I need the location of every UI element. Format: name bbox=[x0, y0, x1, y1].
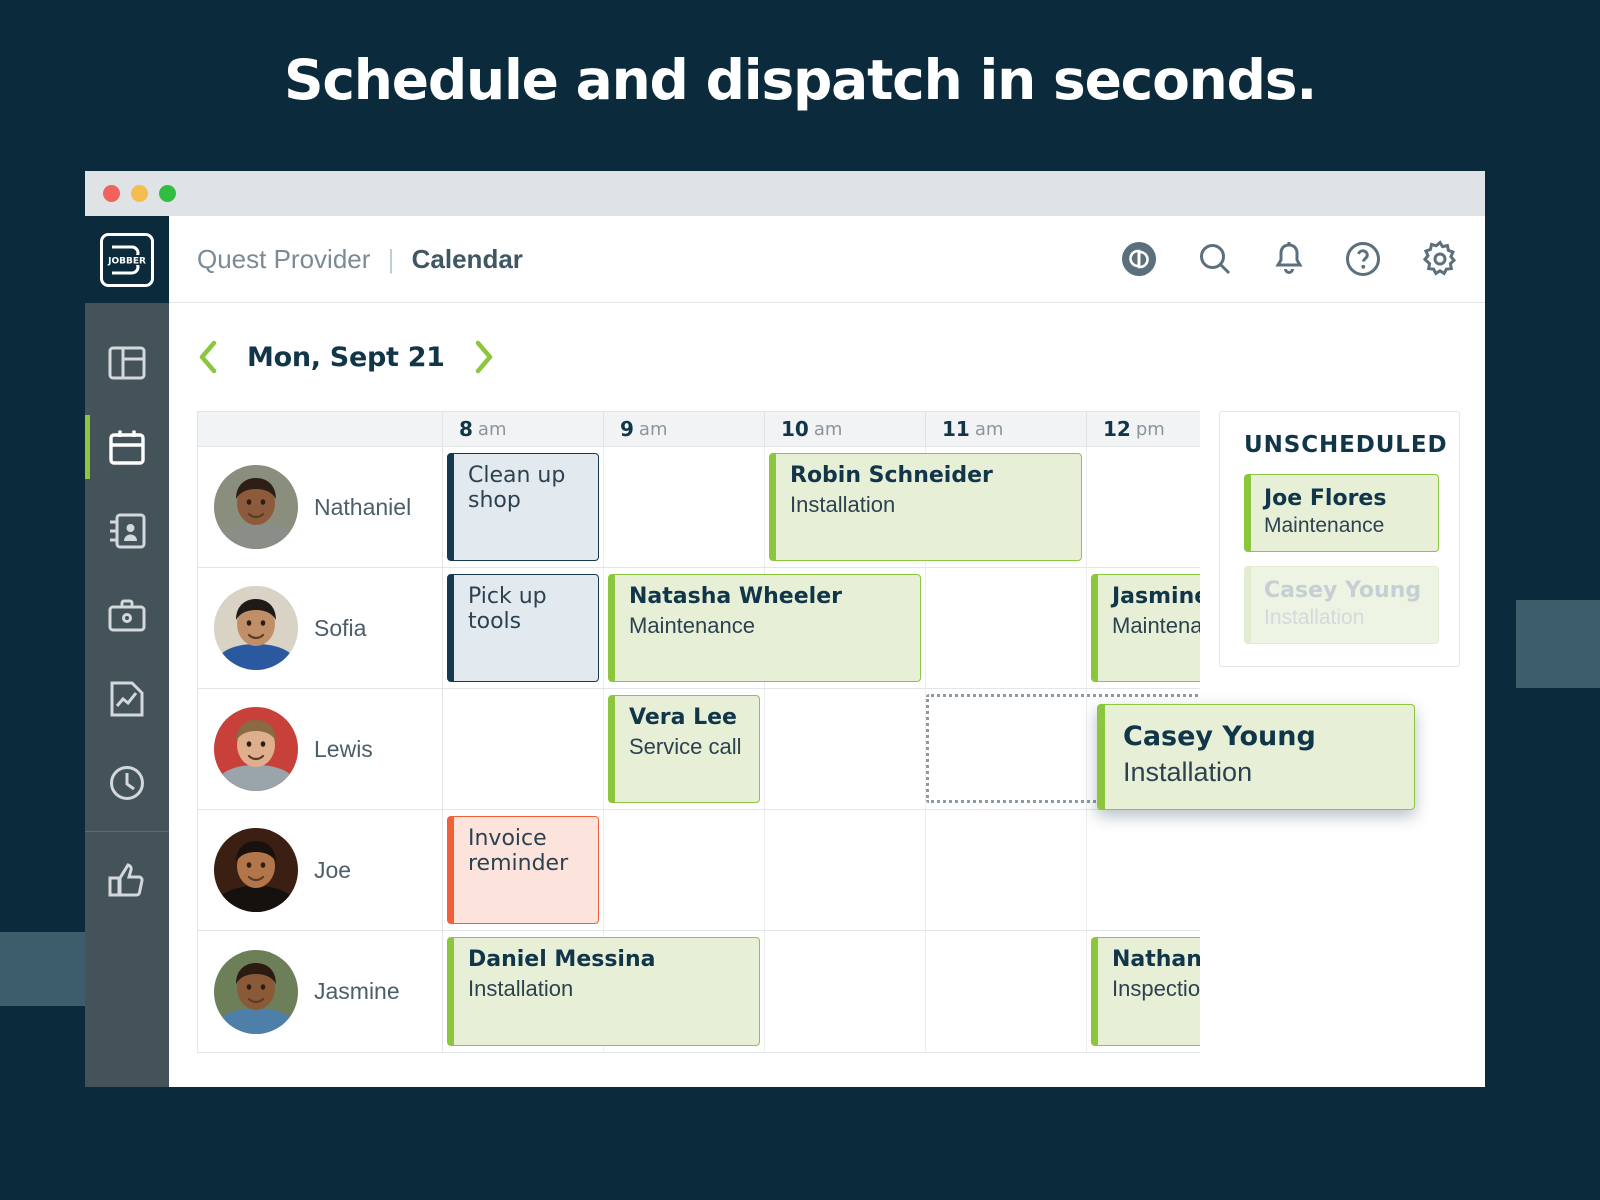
unscheduled-card-title: Joe Flores bbox=[1264, 486, 1425, 511]
date-navigation: Mon, Sept 21 bbox=[169, 303, 1485, 411]
technician-name: Jasmine bbox=[314, 978, 400, 1005]
avatar bbox=[214, 586, 298, 670]
timeline-cell[interactable] bbox=[443, 689, 604, 809]
dragging-job-subtitle: Installation bbox=[1123, 757, 1394, 788]
schedule-row: JoeInvoice reminder bbox=[198, 810, 1200, 931]
schedule-row: SofiaPick up toolsNatasha WheelerMainten… bbox=[198, 568, 1200, 689]
task-card[interactable]: Pick up tools bbox=[447, 574, 599, 682]
card-subtitle: Installation bbox=[790, 493, 1069, 518]
technician-cell[interactable]: Nathaniel bbox=[198, 447, 443, 567]
sidebar-divider bbox=[85, 831, 169, 832]
job-card[interactable]: NathanielInspection bbox=[1091, 937, 1200, 1046]
page-headline: Schedule and dispatch in seconds. bbox=[0, 48, 1600, 112]
technician-name: Nathaniel bbox=[314, 494, 411, 521]
row-timeline: Vera LeeService call bbox=[443, 689, 1200, 809]
card-subtitle: Installation bbox=[468, 977, 747, 1002]
calendar-icon bbox=[109, 429, 145, 465]
app-window: JOBBER bbox=[85, 171, 1485, 1087]
time-hour: 10 bbox=[781, 417, 809, 441]
breadcrumb: Quest Provider | Calendar bbox=[197, 244, 523, 275]
time-hour: 8 bbox=[459, 417, 473, 441]
schedule-area: 8 am 9 am 10 am 11 am bbox=[169, 411, 1485, 1053]
schedule-row: NathanielClean up shopRobin SchneiderIns… bbox=[198, 447, 1200, 568]
schedule-grid: 8 am 9 am 10 am 11 am bbox=[197, 411, 1200, 1053]
avatar bbox=[214, 465, 298, 549]
avatar bbox=[214, 707, 298, 791]
bell-icon[interactable] bbox=[1273, 241, 1305, 277]
sidebar-items bbox=[85, 303, 169, 922]
technician-name: Lewis bbox=[314, 736, 373, 763]
card-title: Clean up shop bbox=[468, 464, 586, 513]
previous-day-button[interactable] bbox=[197, 340, 219, 374]
svg-text:JOBBER: JOBBER bbox=[107, 256, 146, 266]
sidebar: JOBBER bbox=[85, 216, 169, 1087]
close-window-button[interactable] bbox=[103, 185, 120, 202]
time-slot-header: 11 am bbox=[926, 412, 1087, 446]
unscheduled-card[interactable]: Joe Flores Maintenance bbox=[1244, 474, 1439, 552]
unscheduled-card-subtitle: Installation bbox=[1264, 606, 1425, 630]
briefcase-icon bbox=[108, 598, 146, 632]
timeline-cell[interactable] bbox=[926, 931, 1087, 1052]
sidebar-item-timesheets[interactable] bbox=[85, 741, 169, 825]
card-subtitle: Service call bbox=[629, 735, 747, 760]
card-title: Vera Lee bbox=[629, 706, 747, 731]
unscheduled-card-subtitle: Maintenance bbox=[1264, 514, 1425, 538]
time-hour: 9 bbox=[620, 417, 634, 441]
time-slot-header: 12 pm bbox=[1087, 412, 1200, 446]
technician-cell[interactable]: Joe bbox=[198, 810, 443, 930]
time-meridiem: pm bbox=[1136, 419, 1165, 440]
timeline-cell[interactable] bbox=[926, 689, 1087, 809]
schedule-row: LewisVera LeeService call bbox=[198, 689, 1200, 810]
job-card[interactable]: Robin SchneiderInstallation bbox=[769, 453, 1082, 561]
account-name: Quest Provider bbox=[197, 244, 370, 274]
schedule-rows: NathanielClean up shopRobin SchneiderIns… bbox=[198, 447, 1200, 1052]
dragging-job-title: Casey Young bbox=[1123, 721, 1394, 752]
row-timeline: Invoice reminder bbox=[443, 810, 1200, 930]
job-card[interactable]: Vera LeeService call bbox=[608, 695, 760, 803]
card-title: Natasha Wheeler bbox=[629, 585, 908, 610]
reminder-card[interactable]: Invoice reminder bbox=[447, 816, 599, 924]
time-slot-header: 10 am bbox=[765, 412, 926, 446]
sidebar-item-clients[interactable] bbox=[85, 489, 169, 573]
current-date-label: Mon, Sept 21 bbox=[247, 342, 445, 373]
timeline-cell[interactable] bbox=[604, 810, 765, 930]
timeline-cell[interactable] bbox=[604, 447, 765, 567]
timeline-cell[interactable] bbox=[1087, 447, 1200, 567]
card-title: Robin Schneider bbox=[790, 464, 1069, 489]
card-subtitle: Maintenance bbox=[1112, 614, 1200, 639]
gear-icon[interactable] bbox=[1421, 240, 1459, 278]
card-title: Invoice reminder bbox=[468, 827, 586, 876]
minimize-window-button[interactable] bbox=[131, 185, 148, 202]
app-topbar: Quest Provider | Calendar bbox=[169, 216, 1485, 303]
technician-name: Joe bbox=[314, 857, 351, 884]
card-title: Nathaniel bbox=[1112, 948, 1200, 973]
timeline-header-spacer bbox=[198, 412, 443, 446]
card-title: Pick up tools bbox=[468, 585, 586, 634]
technician-cell[interactable]: Jasmine bbox=[198, 931, 443, 1052]
task-card[interactable]: Clean up shop bbox=[447, 453, 599, 561]
unscheduled-title: UNSCHEDULED bbox=[1244, 432, 1439, 458]
thumbs-up-icon bbox=[108, 862, 146, 898]
time-meridiem: am bbox=[639, 419, 668, 440]
window-body: JOBBER bbox=[85, 216, 1485, 1087]
card-subtitle: Maintenance bbox=[629, 614, 908, 639]
avatar bbox=[214, 950, 298, 1034]
avatar bbox=[214, 828, 298, 912]
card-subtitle: Inspection bbox=[1112, 977, 1200, 1002]
row-timeline: Clean up shopRobin SchneiderInstallation bbox=[443, 447, 1200, 567]
unscheduled-card-title: Casey Young bbox=[1264, 578, 1425, 603]
time-slot-header: 8 am bbox=[443, 412, 604, 446]
search-icon[interactable] bbox=[1197, 241, 1233, 277]
help-icon[interactable] bbox=[1345, 241, 1381, 277]
card-title: Jasmine bbox=[1112, 585, 1200, 610]
sidebar-item-reports[interactable] bbox=[85, 657, 169, 741]
unscheduled-panel: UNSCHEDULED Joe Flores Maintenance Casey… bbox=[1219, 411, 1460, 667]
row-timeline: Pick up toolsNatasha WheelerMaintenanceJ… bbox=[443, 568, 1200, 688]
schedule-row: JasmineDaniel MessinaInstallationNathani… bbox=[198, 931, 1200, 1052]
job-card[interactable]: JasmineMaintenance bbox=[1091, 574, 1200, 682]
reports-icon bbox=[109, 681, 145, 717]
sidebar-item-calendar[interactable] bbox=[85, 405, 169, 489]
page-title: Calendar bbox=[412, 244, 523, 274]
dragging-job-card[interactable]: Casey Young Installation bbox=[1097, 704, 1415, 810]
time-hour: 12 bbox=[1103, 417, 1131, 441]
clients-icon bbox=[108, 513, 146, 549]
timeline-cell[interactable] bbox=[926, 810, 1087, 930]
main-content: Quest Provider | Calendar bbox=[169, 216, 1485, 1087]
dashboard-icon bbox=[108, 346, 146, 380]
timesheet-icon bbox=[109, 765, 145, 801]
unscheduled-card-dragging[interactable]: Casey Young Installation bbox=[1244, 566, 1439, 644]
job-card[interactable]: Daniel MessinaInstallation bbox=[447, 937, 760, 1046]
time-slot-header: 9 am bbox=[604, 412, 765, 446]
job-card[interactable]: Natasha WheelerMaintenance bbox=[608, 574, 921, 682]
timeline-cell[interactable] bbox=[765, 931, 926, 1052]
window-titlebar bbox=[85, 171, 1485, 216]
card-title: Daniel Messina bbox=[468, 948, 747, 973]
time-meridiem: am bbox=[975, 419, 1004, 440]
timeline-header: 8 am 9 am 10 am 11 am bbox=[198, 412, 1200, 447]
technician-name: Sofia bbox=[314, 615, 366, 642]
timeline-cell[interactable] bbox=[1087, 810, 1200, 930]
timeline-cell[interactable] bbox=[765, 689, 926, 809]
background-accent-band-right bbox=[1516, 600, 1600, 688]
time-hour: 11 bbox=[942, 417, 970, 441]
jobber-logo[interactable]: JOBBER bbox=[85, 216, 169, 303]
time-meridiem: am bbox=[478, 419, 507, 440]
sidebar-item-dashboard[interactable] bbox=[85, 321, 169, 405]
technician-cell[interactable]: Lewis bbox=[198, 689, 443, 809]
maximize-window-button[interactable] bbox=[159, 185, 176, 202]
next-day-button[interactable] bbox=[473, 340, 495, 374]
timeline-cell[interactable] bbox=[765, 810, 926, 930]
time-meridiem: am bbox=[814, 419, 843, 440]
quickbooks-icon[interactable] bbox=[1121, 241, 1157, 277]
topbar-icon-group bbox=[1121, 240, 1459, 278]
breadcrumb-divider: | bbox=[388, 244, 395, 274]
sidebar-item-jobs[interactable] bbox=[85, 573, 169, 657]
sidebar-item-reviews[interactable] bbox=[85, 838, 169, 922]
timeline-cell[interactable] bbox=[926, 568, 1087, 688]
row-timeline: Daniel MessinaInstallationNathanielInspe… bbox=[443, 931, 1200, 1052]
technician-cell[interactable]: Sofia bbox=[198, 568, 443, 688]
